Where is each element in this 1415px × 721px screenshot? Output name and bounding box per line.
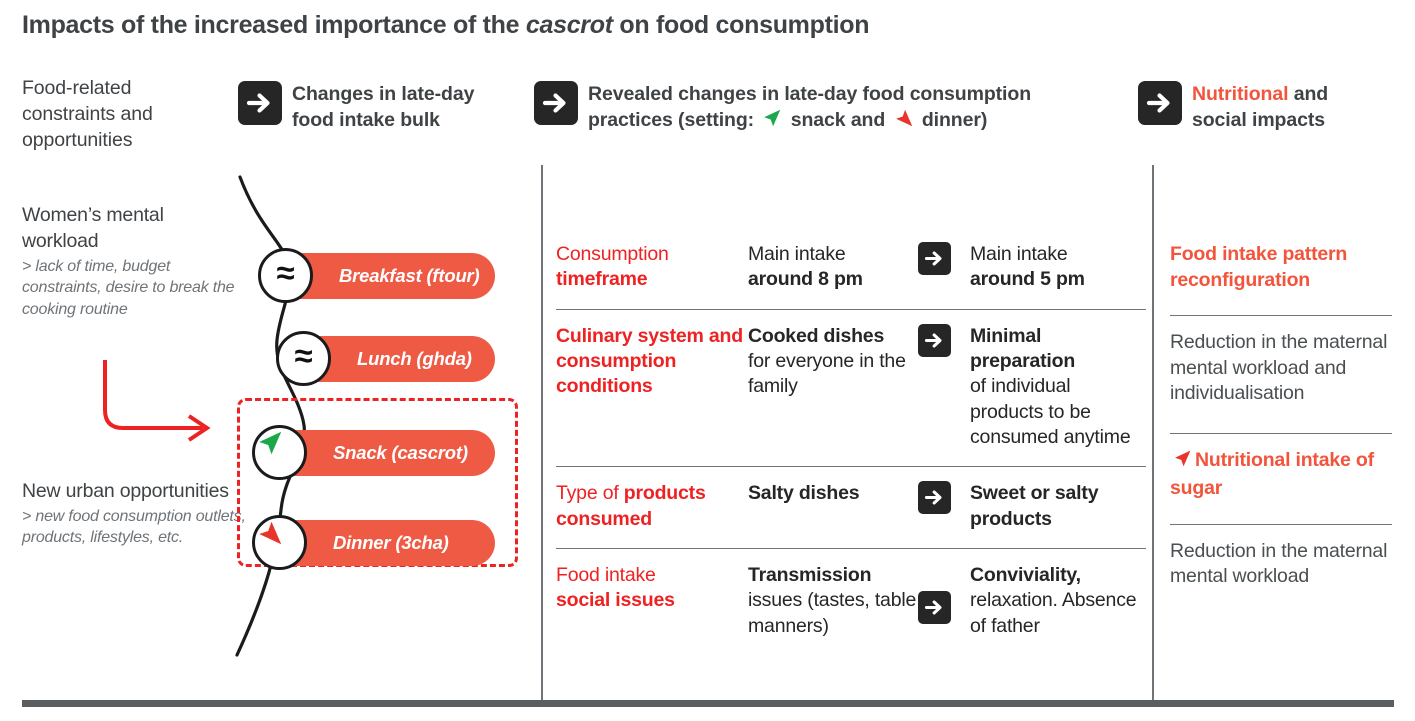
arrow-right-box-icon bbox=[534, 81, 578, 125]
row3-label-bold: social issues bbox=[556, 589, 675, 611]
row3-before-bold: Transmission bbox=[748, 564, 871, 586]
meal-node-dinner bbox=[252, 515, 307, 570]
impact-row: Food intake pattern reconfiguration bbox=[1170, 228, 1392, 316]
arrow-right-box-icon bbox=[1138, 81, 1182, 125]
bottom-rule bbox=[22, 700, 1394, 707]
impact-row: Nutritional intake of sugar bbox=[1170, 434, 1392, 525]
red-navigation-arrow-icon bbox=[893, 107, 915, 136]
column-header-intake-bulk: Changes in late-day food intake bulk bbox=[238, 81, 474, 133]
row0-before-rest: around 8 pm bbox=[748, 268, 863, 290]
divider-right bbox=[1152, 165, 1154, 700]
red-navigation-arrow-icon bbox=[255, 518, 285, 548]
col1-line2: constraints and bbox=[22, 101, 153, 127]
approx-wave-icon: ≈ bbox=[276, 260, 294, 286]
row-arrow bbox=[918, 467, 970, 514]
green-navigation-arrow-icon bbox=[255, 428, 285, 458]
impact-text-1: Reduction in the maternal mental workloa… bbox=[1170, 330, 1392, 407]
row-arrow bbox=[918, 310, 970, 357]
impact-row: Reduction in the maternal mental workloa… bbox=[1170, 316, 1392, 434]
row1-label-bold: Culinary system and consumption conditio… bbox=[556, 325, 743, 398]
arrow-right-box-icon bbox=[918, 324, 951, 357]
table-row: Culinary system and consumption conditio… bbox=[556, 310, 1146, 468]
row-arrow bbox=[918, 228, 970, 275]
row-after-value: Minimal preparationof individual product… bbox=[970, 310, 1146, 467]
row-before-value: Cooked dishesfor everyone in the family bbox=[748, 310, 918, 416]
row1-before-rest: for everyone in the family bbox=[748, 350, 906, 397]
left-block-urban-opportunities: New urban opportunities > new food consu… bbox=[22, 479, 257, 549]
left2-head-line1: New urban opportunities bbox=[22, 479, 257, 505]
col3-line2-b: snack and bbox=[785, 109, 890, 131]
arrow-right-box-icon bbox=[918, 242, 951, 275]
table-row: Food intake social issues Transmissionis… bbox=[556, 549, 1146, 655]
meal-node-lunch: ≈ bbox=[276, 331, 331, 386]
red-elbow-arrow-icon bbox=[85, 358, 225, 458]
col3-line1: Revealed changes in late-day food consum… bbox=[588, 81, 1031, 107]
col4-line2: social impacts bbox=[1192, 107, 1328, 133]
col4-line1: Nutritional and bbox=[1192, 81, 1328, 107]
row-after-value: Conviviality,relaxation. Absence of fath… bbox=[970, 549, 1146, 655]
row-label: Type of products consumed bbox=[556, 467, 748, 548]
meal-node-snack bbox=[252, 425, 307, 480]
row-label: Culinary system and consumption conditio… bbox=[556, 310, 748, 416]
red-navigation-arrow-icon bbox=[1172, 448, 1193, 477]
impacts-column: Food intake pattern reconfiguration Redu… bbox=[1170, 228, 1392, 605]
row-before-value: Transmissionissues (tastes, table manner… bbox=[748, 549, 918, 655]
col3-line2-c: dinner) bbox=[917, 109, 988, 131]
row2-after-bold: Sweet or salty products bbox=[970, 482, 1098, 529]
row-arrow bbox=[918, 549, 970, 624]
row-label: Consumptiontimeframe bbox=[556, 228, 748, 309]
row-before-value: Salty dishes bbox=[748, 467, 918, 522]
row-after-value: Sweet or salty products bbox=[970, 467, 1146, 548]
row2-before-bold: Salty dishes bbox=[748, 482, 859, 504]
comparison-table: Consumptiontimeframe Main intakearound 8… bbox=[556, 228, 1146, 655]
meal-label-dinner: Dinner (3cha) bbox=[333, 532, 449, 554]
meal-node-breakfast: ≈ bbox=[258, 248, 313, 303]
row0-after-bold: Main intake bbox=[970, 243, 1068, 265]
divider-left bbox=[541, 165, 543, 700]
meal-label-lunch: Lunch (ghda) bbox=[357, 348, 472, 370]
column-header-revealed-changes: Revealed changes in late-day food consum… bbox=[534, 81, 1031, 136]
meal-label-breakfast: Breakfast (ftour) bbox=[339, 265, 480, 287]
col4-rest: and bbox=[1288, 83, 1328, 105]
row3-before-rest: issues (tastes, table manners) bbox=[748, 589, 916, 636]
col2-line2: food intake bulk bbox=[292, 107, 474, 133]
row-label: Food intake social issues bbox=[556, 549, 748, 630]
table-row: Type of products consumed Salty dishes S… bbox=[556, 467, 1146, 549]
col3-line2-a: practices (setting: bbox=[588, 109, 759, 131]
arrow-right-box-icon bbox=[918, 591, 951, 624]
col2-line1: Changes in late-day bbox=[292, 81, 474, 107]
row3-after-bold: Conviviality, bbox=[970, 564, 1081, 586]
impact-text-0: Food intake pattern reconfiguration bbox=[1170, 242, 1392, 293]
col1-line1: Food-related bbox=[22, 75, 153, 101]
row1-after-bold: Minimal preparation bbox=[970, 325, 1075, 372]
table-row: Consumptiontimeframe Main intakearound 8… bbox=[556, 228, 1146, 310]
left2-subtext: > new food consumption outlets, products… bbox=[22, 506, 257, 549]
green-navigation-arrow-icon bbox=[761, 107, 783, 136]
title-part-after: on food consumption bbox=[613, 11, 869, 39]
left1-head-line2: workload bbox=[22, 229, 247, 255]
row1-before-bold: Cooked dishes bbox=[748, 325, 884, 347]
impact-text-2: Nutritional intake of sugar bbox=[1170, 449, 1374, 500]
diagram-canvas: Impacts of the increased importance of t… bbox=[0, 0, 1415, 721]
row0-label-bold: timeframe bbox=[556, 268, 647, 290]
impact-text-3: Reduction in the maternal mental workloa… bbox=[1170, 539, 1392, 590]
impact-row: Reduction in the maternal mental workloa… bbox=[1170, 525, 1392, 605]
row0-before-bold: Main intake bbox=[748, 243, 846, 265]
row1-after-rest: of individual products to be consumed an… bbox=[970, 375, 1130, 448]
arrow-right-box-icon bbox=[918, 481, 951, 514]
row0-label-regular: Consumption bbox=[556, 243, 669, 265]
left1-head-line1: Women’s mental bbox=[22, 203, 247, 229]
row-before-value: Main intakearound 8 pm bbox=[748, 228, 918, 309]
page-title: Impacts of the increased importance of t… bbox=[22, 11, 869, 40]
column-header-impacts: Nutritional and social impacts bbox=[1138, 81, 1328, 133]
row3-label-regular: Food intake bbox=[556, 564, 656, 586]
left1-subtext: > lack of time, budget constraints, desi… bbox=[22, 256, 247, 320]
row2-label-regular: Type of bbox=[556, 482, 624, 504]
col1-line3: opportunities bbox=[22, 127, 153, 153]
approx-wave-icon: ≈ bbox=[294, 343, 312, 369]
meal-label-snack: Snack (cascrot) bbox=[333, 442, 468, 464]
left-block-womens-workload: Women’s mental workload > lack of time, … bbox=[22, 203, 247, 320]
row3-after-rest: relaxation. Absence of father bbox=[970, 589, 1136, 636]
meal-flow-diagram: Breakfast (ftour) ≈ Lunch (ghda) ≈ Snack… bbox=[225, 170, 525, 670]
row0-after-rest: around 5 pm bbox=[970, 268, 1085, 290]
title-italic-term: cascrot bbox=[526, 11, 613, 39]
row-after-value: Main intakearound 5 pm bbox=[970, 228, 1146, 309]
column-header-constraints: Food-related constraints and opportuniti… bbox=[22, 75, 222, 153]
col4-accent: Nutritional bbox=[1192, 83, 1288, 105]
col3-line2: practices (setting: snack and dinner) bbox=[588, 107, 1031, 136]
arrow-right-box-icon bbox=[238, 81, 282, 125]
title-part-before: Impacts of the increased importance of t… bbox=[22, 11, 526, 39]
